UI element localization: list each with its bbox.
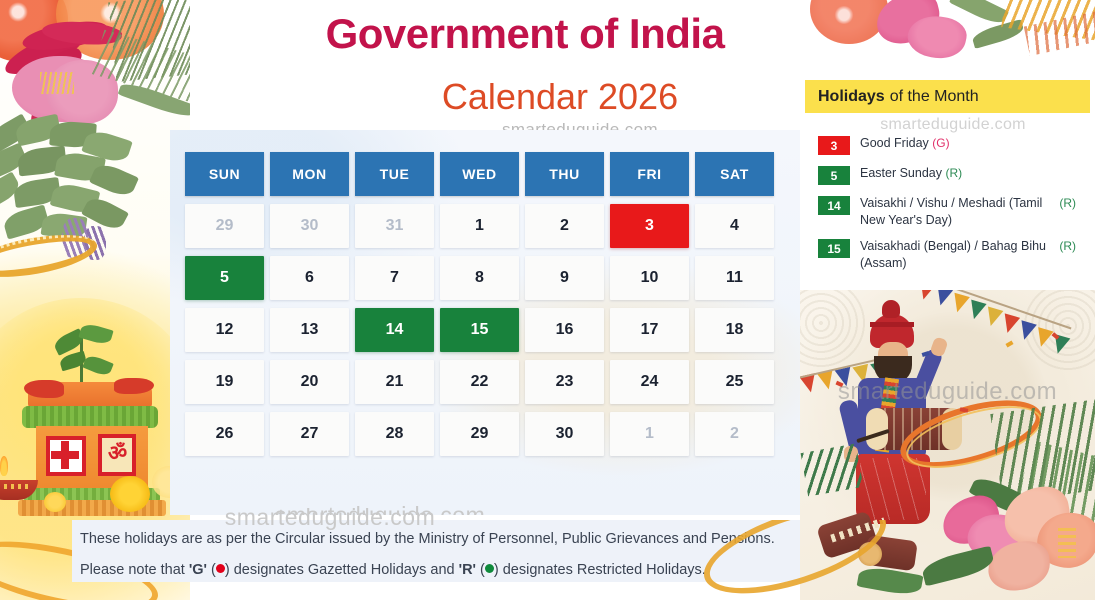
holidays-panel: Holidays of the Month smarteduguide.com … (805, 80, 1090, 292)
calendar-day-cell[interactable]: 19 (185, 360, 264, 404)
calendar-day-cell[interactable]: 18 (695, 308, 774, 352)
holidays-panel-header: Holidays of the Month (805, 80, 1090, 113)
calendar-day-cell[interactable]: 5 (185, 256, 264, 300)
calendar-day-cell[interactable]: 29 (185, 204, 264, 248)
calendar-week-row: 19202122232425 (182, 356, 788, 408)
holiday-type-tag: (G) (932, 136, 949, 150)
footer-line-1: These holidays are as per the Circular i… (80, 529, 804, 550)
calendar-week-row: 2930311234 (182, 200, 788, 252)
calendar-day-cell[interactable]: 2 (525, 204, 604, 248)
page-title: Government of India (245, 10, 805, 58)
calendar-day-cell[interactable]: 22 (440, 360, 519, 404)
calendar-day-cell[interactable]: 20 (270, 360, 349, 404)
calendar-day-cell[interactable]: 14 (355, 308, 434, 352)
calendar-day-cell[interactable]: 27 (270, 412, 349, 456)
footer-line-2: Please note that 'G' () designates Gazet… (80, 560, 804, 581)
calendar-page: ॐ Government of India Calendar 2026 smar… (0, 0, 1095, 600)
calendar-day-cell[interactable]: 11 (695, 256, 774, 300)
calendar-day-cell[interactable]: 7 (355, 256, 434, 300)
marigold-flower (44, 492, 66, 512)
calendar-panel: 2026April SUN MON TUE WED THU FRI SAT 29… (170, 130, 800, 515)
restricted-dot-icon (485, 564, 494, 573)
marigold-flower (110, 476, 150, 512)
holiday-date-badge: 5 (818, 166, 850, 185)
calendar-day-cell[interactable]: 4 (695, 204, 774, 248)
calendar-day-cell[interactable]: 25 (695, 360, 774, 404)
holiday-name: Good Friday (G) (860, 135, 950, 152)
weekday-header-sun: SUN (185, 152, 264, 196)
holiday-list-item[interactable]: 3Good Friday (G) (818, 135, 1080, 155)
footer-line2-e: ) designates Restricted Holidays. (494, 562, 706, 578)
right-decorative-artwork: smarteduguide.com (800, 290, 1095, 600)
footer-line2-d: ( (476, 562, 485, 578)
calendar-day-cell[interactable]: 13 (270, 308, 349, 352)
holiday-date-badge: 15 (818, 239, 850, 258)
holidays-list: 3Good Friday (G)5Easter Sunday (R)14Vais… (805, 113, 1090, 271)
holiday-type-tag: (R) (945, 166, 962, 180)
calendar-day-cell[interactable]: 28 (355, 412, 434, 456)
weekday-header-mon: MON (270, 152, 349, 196)
calendar-day-cell[interactable]: 3 (610, 204, 689, 248)
calendar-day-cell[interactable]: 30 (525, 412, 604, 456)
weekday-header-tue: TUE (355, 152, 434, 196)
tulsi-shrine-illustration: ॐ (18, 360, 168, 520)
calendar-day-cell[interactable]: 1 (610, 412, 689, 456)
holiday-name-text: Vaisakhi / Vishu / Meshadi (Tamil New Ye… (860, 196, 1042, 227)
calendar-day-cell[interactable]: 21 (355, 360, 434, 404)
left-decorative-artwork: ॐ (0, 0, 190, 600)
weekday-header-fri: FRI (610, 152, 689, 196)
calendar-day-cell[interactable]: 16 (525, 308, 604, 352)
holiday-list-item[interactable]: 14Vaisakhi / Vishu / Meshadi (Tamil New … (818, 195, 1080, 228)
holidays-title-rest: of the Month (890, 88, 979, 106)
calendar-week-row: 12131415161718 (182, 304, 788, 356)
holiday-list-item[interactable]: 5Easter Sunday (R) (818, 165, 1080, 185)
gazetted-code: 'G' (189, 562, 207, 578)
top-right-floral-artwork (790, 0, 1095, 80)
calendar-day-cell[interactable]: 30 (270, 204, 349, 248)
calendar-day-cell[interactable]: 17 (610, 308, 689, 352)
footer-line2-b: ( (207, 562, 216, 578)
holidays-title-bold: Holidays (818, 88, 885, 106)
holiday-name-text: Easter Sunday (860, 166, 942, 180)
calendar-day-cell[interactable]: 24 (610, 360, 689, 404)
holiday-name: Vaisakhi / Vishu / Meshadi (Tamil New Ye… (860, 195, 1050, 228)
dhol-drum-icon (870, 408, 958, 450)
calendar-day-cell[interactable]: 29 (440, 412, 519, 456)
gazetted-dot-icon (216, 564, 225, 573)
watermark-artwork: smarteduguide.com (800, 378, 1095, 406)
diya-lamp-illustration (0, 462, 42, 508)
holiday-name: Easter Sunday (R) (860, 165, 962, 182)
calendar-day-cell[interactable]: 31 (355, 204, 434, 248)
holiday-name-text: Vaisakhadi (Bengal) / Bahag Bihu (Assam) (860, 239, 1046, 270)
weekday-header-sat: SAT (695, 152, 774, 196)
calendar-day-cell[interactable]: 8 (440, 256, 519, 300)
holiday-list-item[interactable]: 15Vaisakhadi (Bengal) / Bahag Bihu (Assa… (818, 238, 1080, 271)
calendar-grid: SUN MON TUE WED THU FRI SAT 293031123456… (182, 148, 788, 460)
weekday-header-wed: WED (440, 152, 519, 196)
holiday-date-badge: 14 (818, 196, 850, 215)
calendar-subtitle: Calendar 2026 (330, 76, 790, 118)
watermark-holidays: smarteduguide.com (833, 116, 1073, 134)
footer-line2-a: Please note that (80, 562, 189, 578)
footer-line2-c: ) designates Gazetted Holidays and (225, 562, 459, 578)
calendar-day-cell[interactable]: 12 (185, 308, 264, 352)
holiday-name: Vaisakhadi (Bengal) / Bahag Bihu (Assam) (860, 238, 1050, 271)
holiday-type-tag: (R) (1059, 239, 1076, 253)
calendar-day-cell[interactable]: 15 (440, 308, 519, 352)
weekday-header-thu: THU (525, 152, 604, 196)
holiday-date-badge: 3 (818, 136, 850, 155)
watermark-calendar: smarteduguide.com (230, 502, 530, 515)
holiday-name-text: Good Friday (860, 136, 929, 150)
restricted-code: 'R' (459, 562, 476, 578)
calendar-day-cell[interactable]: 1 (440, 204, 519, 248)
holiday-type-tag: (R) (1059, 196, 1076, 210)
calendar-weeks: 2930311234567891011121314151617181920212… (182, 200, 788, 460)
calendar-day-cell[interactable]: 10 (610, 256, 689, 300)
bhangra-dancer-illustration (836, 308, 976, 578)
calendar-week-row: 567891011 (182, 252, 788, 304)
calendar-week-row: 262728293012 (182, 408, 788, 460)
calendar-day-cell[interactable]: 26 (185, 412, 264, 456)
calendar-day-cell[interactable]: 6 (270, 256, 349, 300)
calendar-day-cell[interactable]: 2 (695, 412, 774, 456)
weekday-header-row: SUN MON TUE WED THU FRI SAT (182, 148, 788, 200)
calendar-day-cell[interactable]: 23 (525, 360, 604, 404)
calendar-day-cell[interactable]: 9 (525, 256, 604, 300)
